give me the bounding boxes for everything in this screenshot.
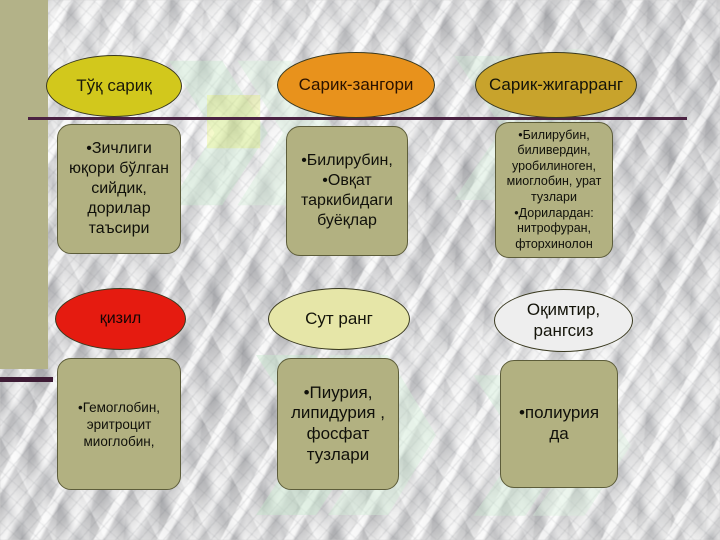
node-box-tuq-sariq[interactable]: Зичлиги юқори бўлган сийдик, дорилар таъ… bbox=[57, 124, 181, 254]
node-ellipse-qizil[interactable]: қизил bbox=[55, 288, 186, 350]
list-item: Гемоглобин, эритроцит миоглобин, bbox=[64, 399, 174, 450]
list-item: Зичлиги юқори бўлган сийдик, дорилар таъ… bbox=[64, 139, 174, 238]
node-list-sarik-jigarrang: Билирубин, биливердин, уробилиноген, мио… bbox=[496, 128, 612, 253]
node-box-qizil[interactable]: Гемоглобин, эритроцит миоглобин, bbox=[57, 358, 181, 490]
node-box-sarik-jigarrang[interactable]: Билирубин, биливердин, уробилиноген, мио… bbox=[495, 122, 613, 258]
node-ellipse-sut-rang[interactable]: Сут ранг bbox=[268, 288, 410, 350]
node-ellipse-tuq-sariq[interactable]: Тўқ сариқ bbox=[46, 55, 182, 117]
node-ellipse-sarik-jigarrang[interactable]: Сарик-жигарранг bbox=[475, 52, 637, 118]
node-box-oqimtir-rangsiz[interactable]: полиурия да bbox=[500, 360, 618, 488]
node-title-tuq-sariq: Тўқ сариқ bbox=[66, 76, 161, 97]
node-box-sut-rang[interactable]: Пиурия, липидурия , фосфат тузлари bbox=[277, 358, 399, 490]
node-title-qizil: қизил bbox=[90, 309, 152, 329]
left-accent-band bbox=[0, 0, 48, 369]
node-title-oqimtir-rangsiz: Оқимтир, рангсиз bbox=[495, 300, 632, 341]
list-item: Дорилардан: нитрофуран, фторхинолон bbox=[502, 206, 606, 253]
node-title-sut-rang: Сут ранг bbox=[295, 309, 383, 330]
list-item: Билирубин, bbox=[293, 151, 401, 171]
node-list-sut-rang: Пиурия, липидурия , фосфат тузлари bbox=[278, 383, 398, 466]
node-list-tuq-sariq: Зичлиги юқори бўлган сийдик, дорилар таъ… bbox=[58, 139, 180, 238]
slide-canvas: Тўқ сариқ Зичлиги юқори бўлган сийдик, д… bbox=[0, 0, 720, 540]
node-ellipse-oqimtir-rangsiz[interactable]: Оқимтир, рангсиз bbox=[494, 289, 633, 352]
node-ellipse-sarik-zangori[interactable]: Сарик-зангори bbox=[277, 52, 435, 118]
node-title-sarik-zangori: Сарик-зангори bbox=[289, 75, 424, 96]
list-item: Пиурия, липидурия , фосфат тузлари bbox=[284, 383, 392, 466]
list-item: полиурия да bbox=[507, 403, 611, 444]
node-title-sarik-jigarrang: Сарик-жигарранг bbox=[479, 75, 633, 96]
left-divider-rule bbox=[0, 377, 53, 382]
node-list-qizil: Гемоглобин, эритроцит миоглобин, bbox=[58, 399, 180, 450]
list-item: Билирубин, биливердин, уробилиноген, мио… bbox=[502, 128, 606, 206]
list-item: Овқат таркибидаги буёқлар bbox=[293, 171, 401, 230]
node-list-sarik-zangori: Билирубин, Овқат таркибидаги буёқлар bbox=[287, 151, 407, 230]
node-box-sarik-zangori[interactable]: Билирубин, Овқат таркибидаги буёқлар bbox=[286, 126, 408, 256]
node-list-oqimtir-rangsiz: полиурия да bbox=[501, 403, 617, 444]
